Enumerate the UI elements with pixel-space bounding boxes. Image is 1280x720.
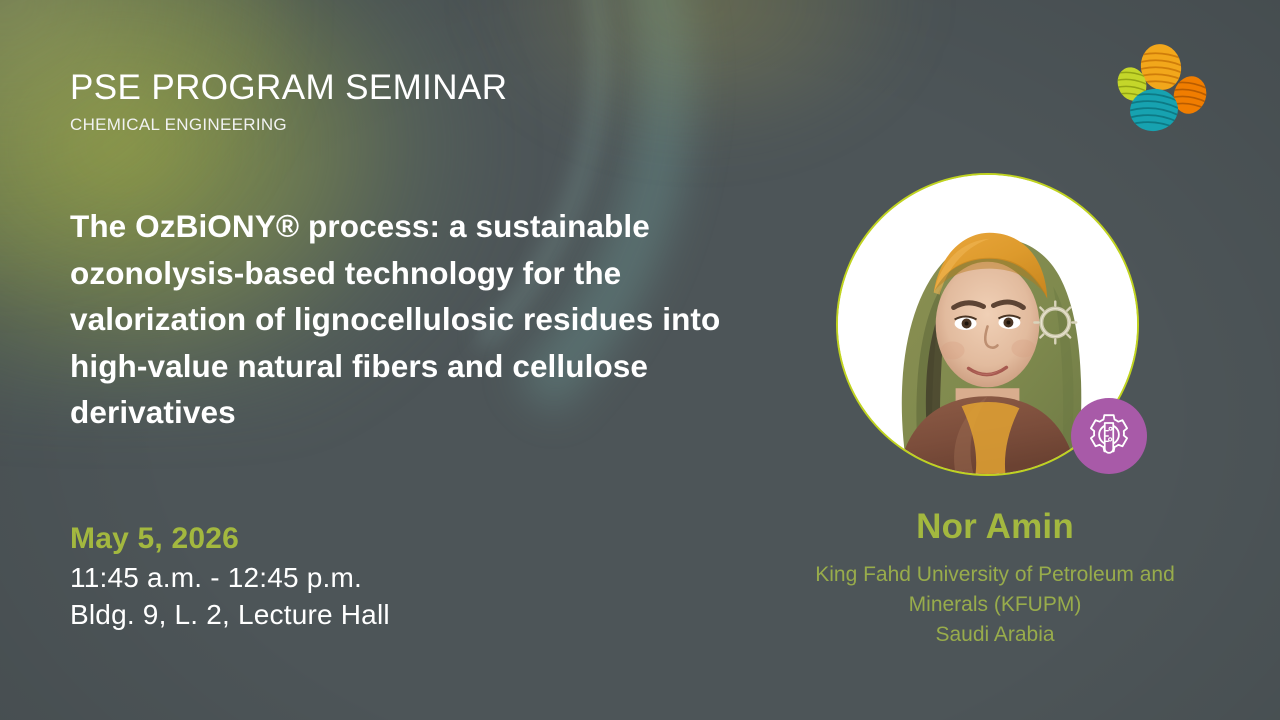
seminar-announcement-slide: PSE PROGRAM SEMINAR CHEMICAL ENGINEERING [0,0,1280,720]
speaker-affiliation: King Fahd University of Petroleum and Mi… [770,560,1220,651]
event-time: 11:45 a.m. - 12:45 p.m. [70,559,390,596]
speaker-affiliation-line-2: Minerals (KFUPM) [770,590,1220,620]
brand-logo [1112,42,1208,134]
slide-header: PSE PROGRAM SEMINAR CHEMICAL ENGINEERING [70,70,507,135]
talk-title: The OzBiONY® process: a sustainable ozon… [70,203,800,436]
speaker-name: Nor Amin [770,508,1220,547]
gear-test-tube-icon [1071,398,1147,474]
event-location: Bldg. 9, L. 2, Lecture Hall [70,596,390,633]
speaker-affiliation-line-3: Saudi Arabia [770,620,1220,650]
event-date: May 5, 2026 [70,519,390,559]
speaker-photo [836,173,1139,476]
program-subtitle: CHEMICAL ENGINEERING [70,115,507,135]
speaker-info: Nor Amin King Fahd University of Petrole… [770,508,1220,651]
program-title: PSE PROGRAM SEMINAR [70,70,507,107]
speaker-affiliation-line-1: King Fahd University of Petroleum and [770,560,1220,590]
event-details: May 5, 2026 11:45 a.m. - 12:45 p.m. Bldg… [70,519,390,633]
